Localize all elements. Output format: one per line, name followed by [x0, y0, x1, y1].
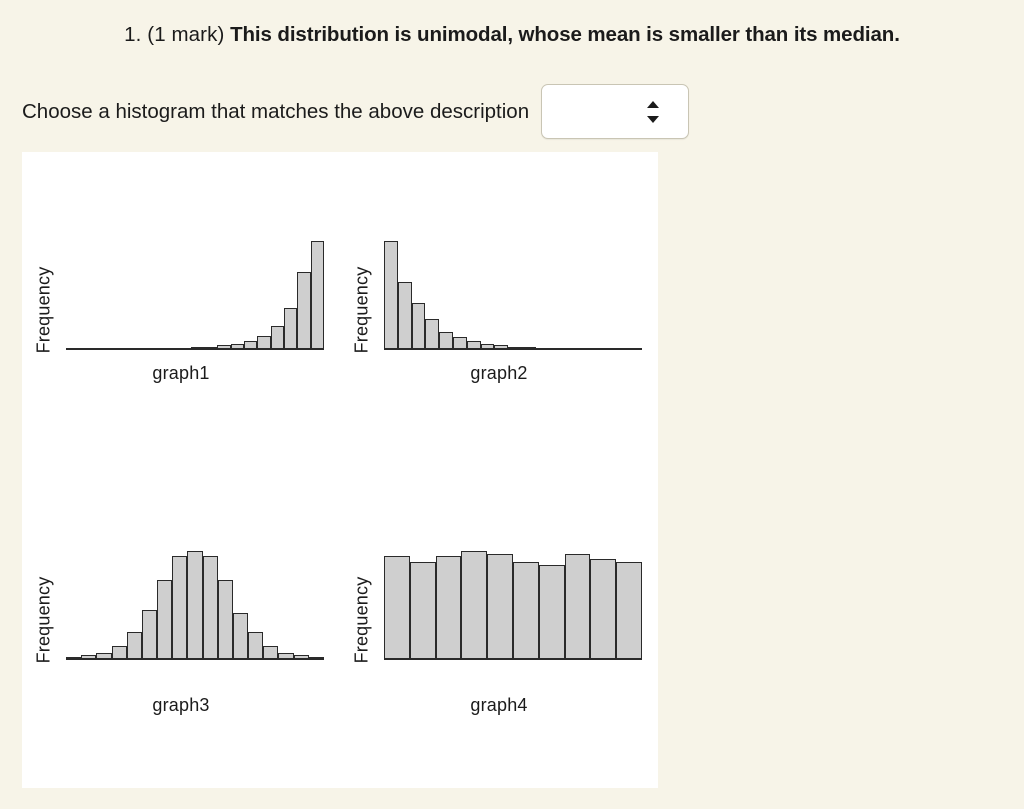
histogram-bar [218, 580, 233, 658]
histogram-bar [311, 241, 324, 348]
answer-prompt-row: Choose a histogram that matches the abov… [22, 84, 689, 139]
histogram-cell-graph3: Frequency graph3 [22, 470, 340, 788]
histogram-bar [233, 613, 248, 658]
histogram-cell-graph1: Frequency graph1 [22, 152, 340, 470]
histogram-bar [384, 241, 398, 348]
histogram-label-graph4: graph4 [340, 695, 658, 716]
plot-area-graph3 [66, 520, 324, 720]
bars-graph4 [384, 548, 642, 658]
y-axis-label-graph3: Frequency [22, 520, 66, 720]
histogram-bar [263, 646, 278, 658]
histogram-bar [112, 646, 127, 658]
histogram-bar [539, 565, 565, 659]
histogram-select-wrapper[interactable] [541, 84, 689, 139]
histogram-bar [142, 610, 157, 658]
histogram-bar [127, 632, 142, 658]
histogram-bar [187, 551, 202, 658]
histogram-bar [425, 319, 439, 348]
histogram-bar [412, 303, 426, 348]
histogram-bar [157, 580, 172, 658]
bars-graph1 [66, 238, 324, 348]
x-axis-line-graph3 [66, 658, 324, 660]
histogram-bar [248, 632, 263, 658]
plot-area-graph4 [384, 520, 642, 720]
histogram-body-graph3: Frequency [22, 520, 340, 720]
question-statement: This distribution is unimodal, whose mea… [230, 23, 900, 46]
histogram-bar [297, 272, 310, 348]
y-axis-label-graph4: Frequency [340, 520, 384, 720]
histogram-label-graph1: graph1 [22, 363, 340, 384]
bars-graph3 [66, 548, 324, 658]
question-number: 1. (1 mark) [124, 23, 224, 46]
histogram-bar [284, 308, 297, 348]
histogram-panel: Frequency graph1 Frequency graph2 [22, 152, 658, 788]
histogram-bar [203, 556, 218, 658]
y-axis-label-text: Frequency [352, 267, 373, 354]
histogram-body-graph4: Frequency [340, 520, 658, 720]
histogram-bar [565, 554, 591, 659]
histogram-bar [513, 562, 539, 658]
histogram-bar [257, 336, 270, 348]
bars-graph2 [384, 238, 642, 348]
histogram-bar [271, 326, 284, 348]
histogram-bar [398, 282, 412, 348]
histogram-cell-graph4: Frequency graph4 [340, 470, 658, 788]
histogram-bar [172, 556, 187, 658]
histogram-bar [439, 332, 453, 349]
histogram-grid: Frequency graph1 Frequency graph2 [22, 152, 658, 788]
histogram-bar [453, 337, 467, 348]
x-axis-line-graph1 [66, 348, 324, 350]
histogram-cell-graph2: Frequency graph2 [340, 152, 658, 470]
histogram-bar [616, 562, 642, 658]
histogram-bar [461, 551, 487, 658]
y-axis-label-text: Frequency [34, 577, 55, 664]
y-axis-label-text: Frequency [352, 577, 373, 664]
histogram-bar [487, 554, 513, 659]
histogram-label-graph2: graph2 [340, 363, 658, 384]
prompt-label: Choose a histogram that matches the abov… [22, 98, 529, 126]
question-header: 1. (1 mark) This distribution is unimoda… [0, 22, 1024, 48]
histogram-bar [590, 559, 616, 658]
histogram-bar [436, 556, 462, 658]
x-axis-line-graph2 [384, 348, 642, 350]
y-axis-label-text: Frequency [34, 267, 55, 354]
histogram-bar [410, 562, 436, 658]
histogram-bar [384, 556, 410, 658]
histogram-select[interactable] [541, 84, 689, 139]
histogram-label-graph3: graph3 [22, 695, 340, 716]
x-axis-line-graph4 [384, 658, 642, 660]
